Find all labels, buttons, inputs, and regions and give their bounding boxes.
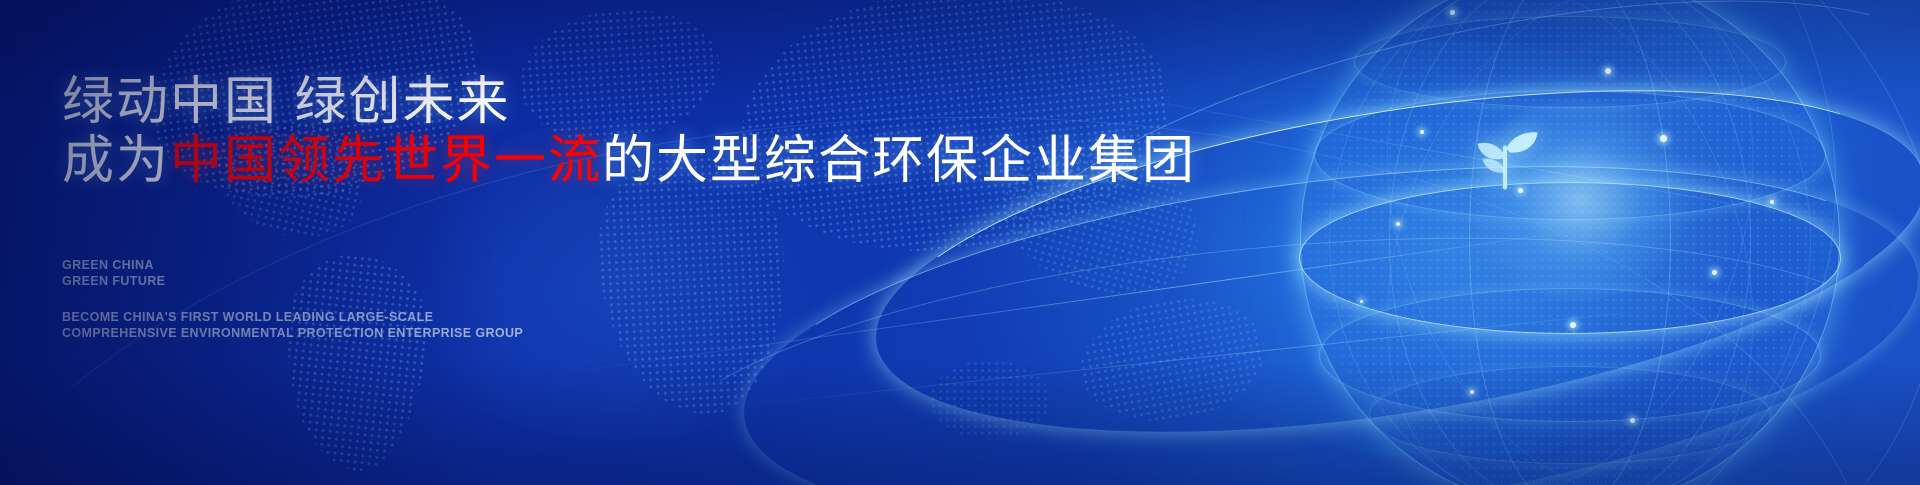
tagline-english-line-1: GREEN CHINA: [62, 258, 165, 274]
tagline-english: GREEN CHINA GREEN FUTURE: [62, 258, 165, 289]
subtitle-english-line-1: BECOME CHINA'S FIRST WORLD LEADING LARGE…: [62, 310, 523, 326]
headline-line-2: 成为中国领先世界一流的大型综合环保企业集团: [62, 135, 1196, 187]
hero-banner: 绿动中国 绿创未来 成为中国领先世界一流的大型综合环保企业集团 GREEN CH…: [0, 0, 1920, 485]
tagline-english-line-2: GREEN FUTURE: [62, 274, 165, 290]
headline-line-1: 绿动中国 绿创未来: [62, 76, 510, 128]
headline-line-2-suffix: 的大型综合环保企业集团: [602, 132, 1196, 190]
subtitle-english-line-2: COMPREHENSIVE ENVIRONMENTAL PROTECTION E…: [62, 326, 523, 342]
headline-line-2-prefix: 成为: [62, 132, 170, 190]
sprout-leaf-icon: [1465, 115, 1545, 195]
subtitle-english: BECOME CHINA'S FIRST WORLD LEADING LARGE…: [62, 310, 523, 341]
headline-line-2-accent: 中国领先世界一流: [170, 132, 602, 190]
banner-copy: 绿动中国 绿创未来 成为中国领先世界一流的大型综合环保企业集团 GREEN CH…: [62, 0, 1062, 485]
